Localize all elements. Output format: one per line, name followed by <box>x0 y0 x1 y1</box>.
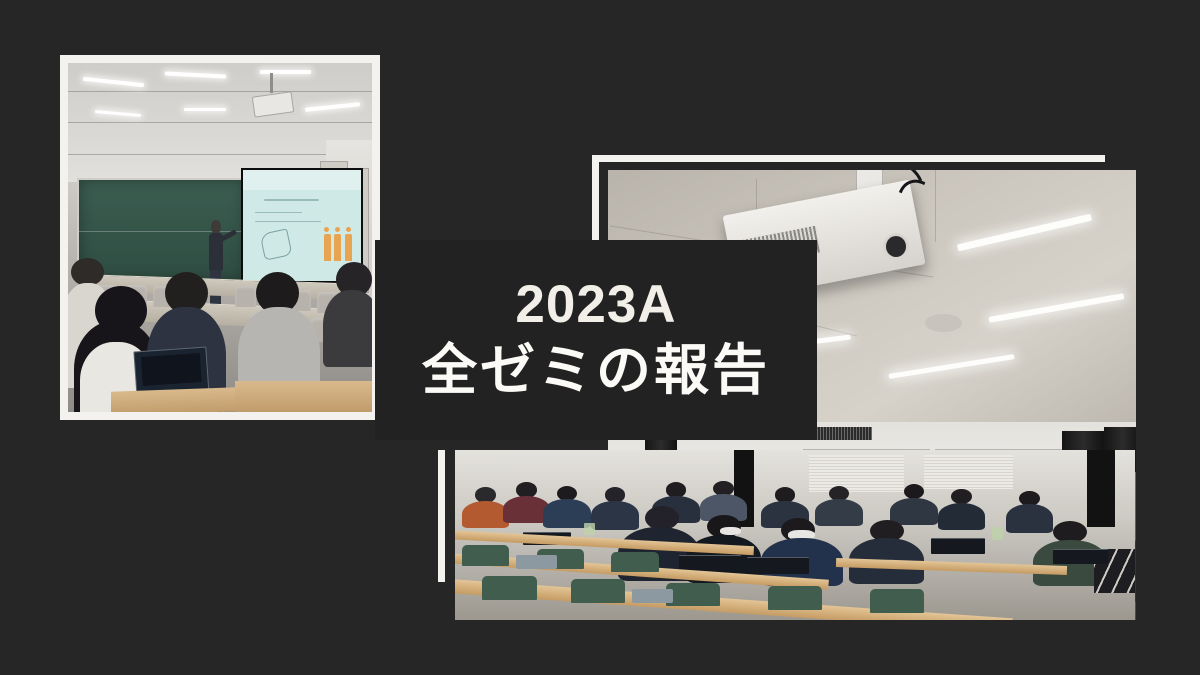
title-line-year: 2023A <box>515 277 676 333</box>
face-mask <box>720 527 740 536</box>
chair-back <box>516 555 557 569</box>
student <box>1006 504 1054 533</box>
title-line-subject: 全ゼミの報告 <box>422 338 770 403</box>
chair <box>768 586 822 610</box>
window-blind <box>924 455 1012 489</box>
water-bottle <box>992 527 1003 541</box>
presenter <box>205 220 232 311</box>
photo-students-desks <box>455 450 1135 620</box>
laptop <box>747 557 808 574</box>
ceiling-light <box>184 108 227 111</box>
student <box>591 501 639 530</box>
student <box>890 498 938 525</box>
laptop <box>1053 549 1107 564</box>
student <box>815 499 863 526</box>
ceiling-light <box>260 70 312 74</box>
chair <box>482 576 536 600</box>
chair <box>611 552 659 572</box>
projector-lens <box>883 233 909 260</box>
window-blind <box>809 455 904 492</box>
curtain <box>1087 450 1114 527</box>
laptop <box>931 538 985 553</box>
chair <box>870 589 924 613</box>
photo-lecture-presenter-image <box>68 63 372 412</box>
chair <box>462 545 510 565</box>
ceiling-speaker <box>925 314 962 332</box>
water-bottle <box>584 523 595 535</box>
desk <box>235 381 372 412</box>
photo-students-desks-frame <box>438 450 445 582</box>
student <box>938 503 986 530</box>
desk-row <box>455 578 1012 620</box>
chair <box>571 579 625 603</box>
title-card: 2023A 全ゼミの報告 <box>375 240 817 440</box>
chair <box>666 583 720 607</box>
chair-back <box>632 589 673 603</box>
projector-mount <box>270 73 273 93</box>
audience-member <box>323 290 372 367</box>
photo-lecture-presenter <box>60 55 380 420</box>
presentation-slide: 2023A 全ゼミの報告 <box>0 0 1200 675</box>
